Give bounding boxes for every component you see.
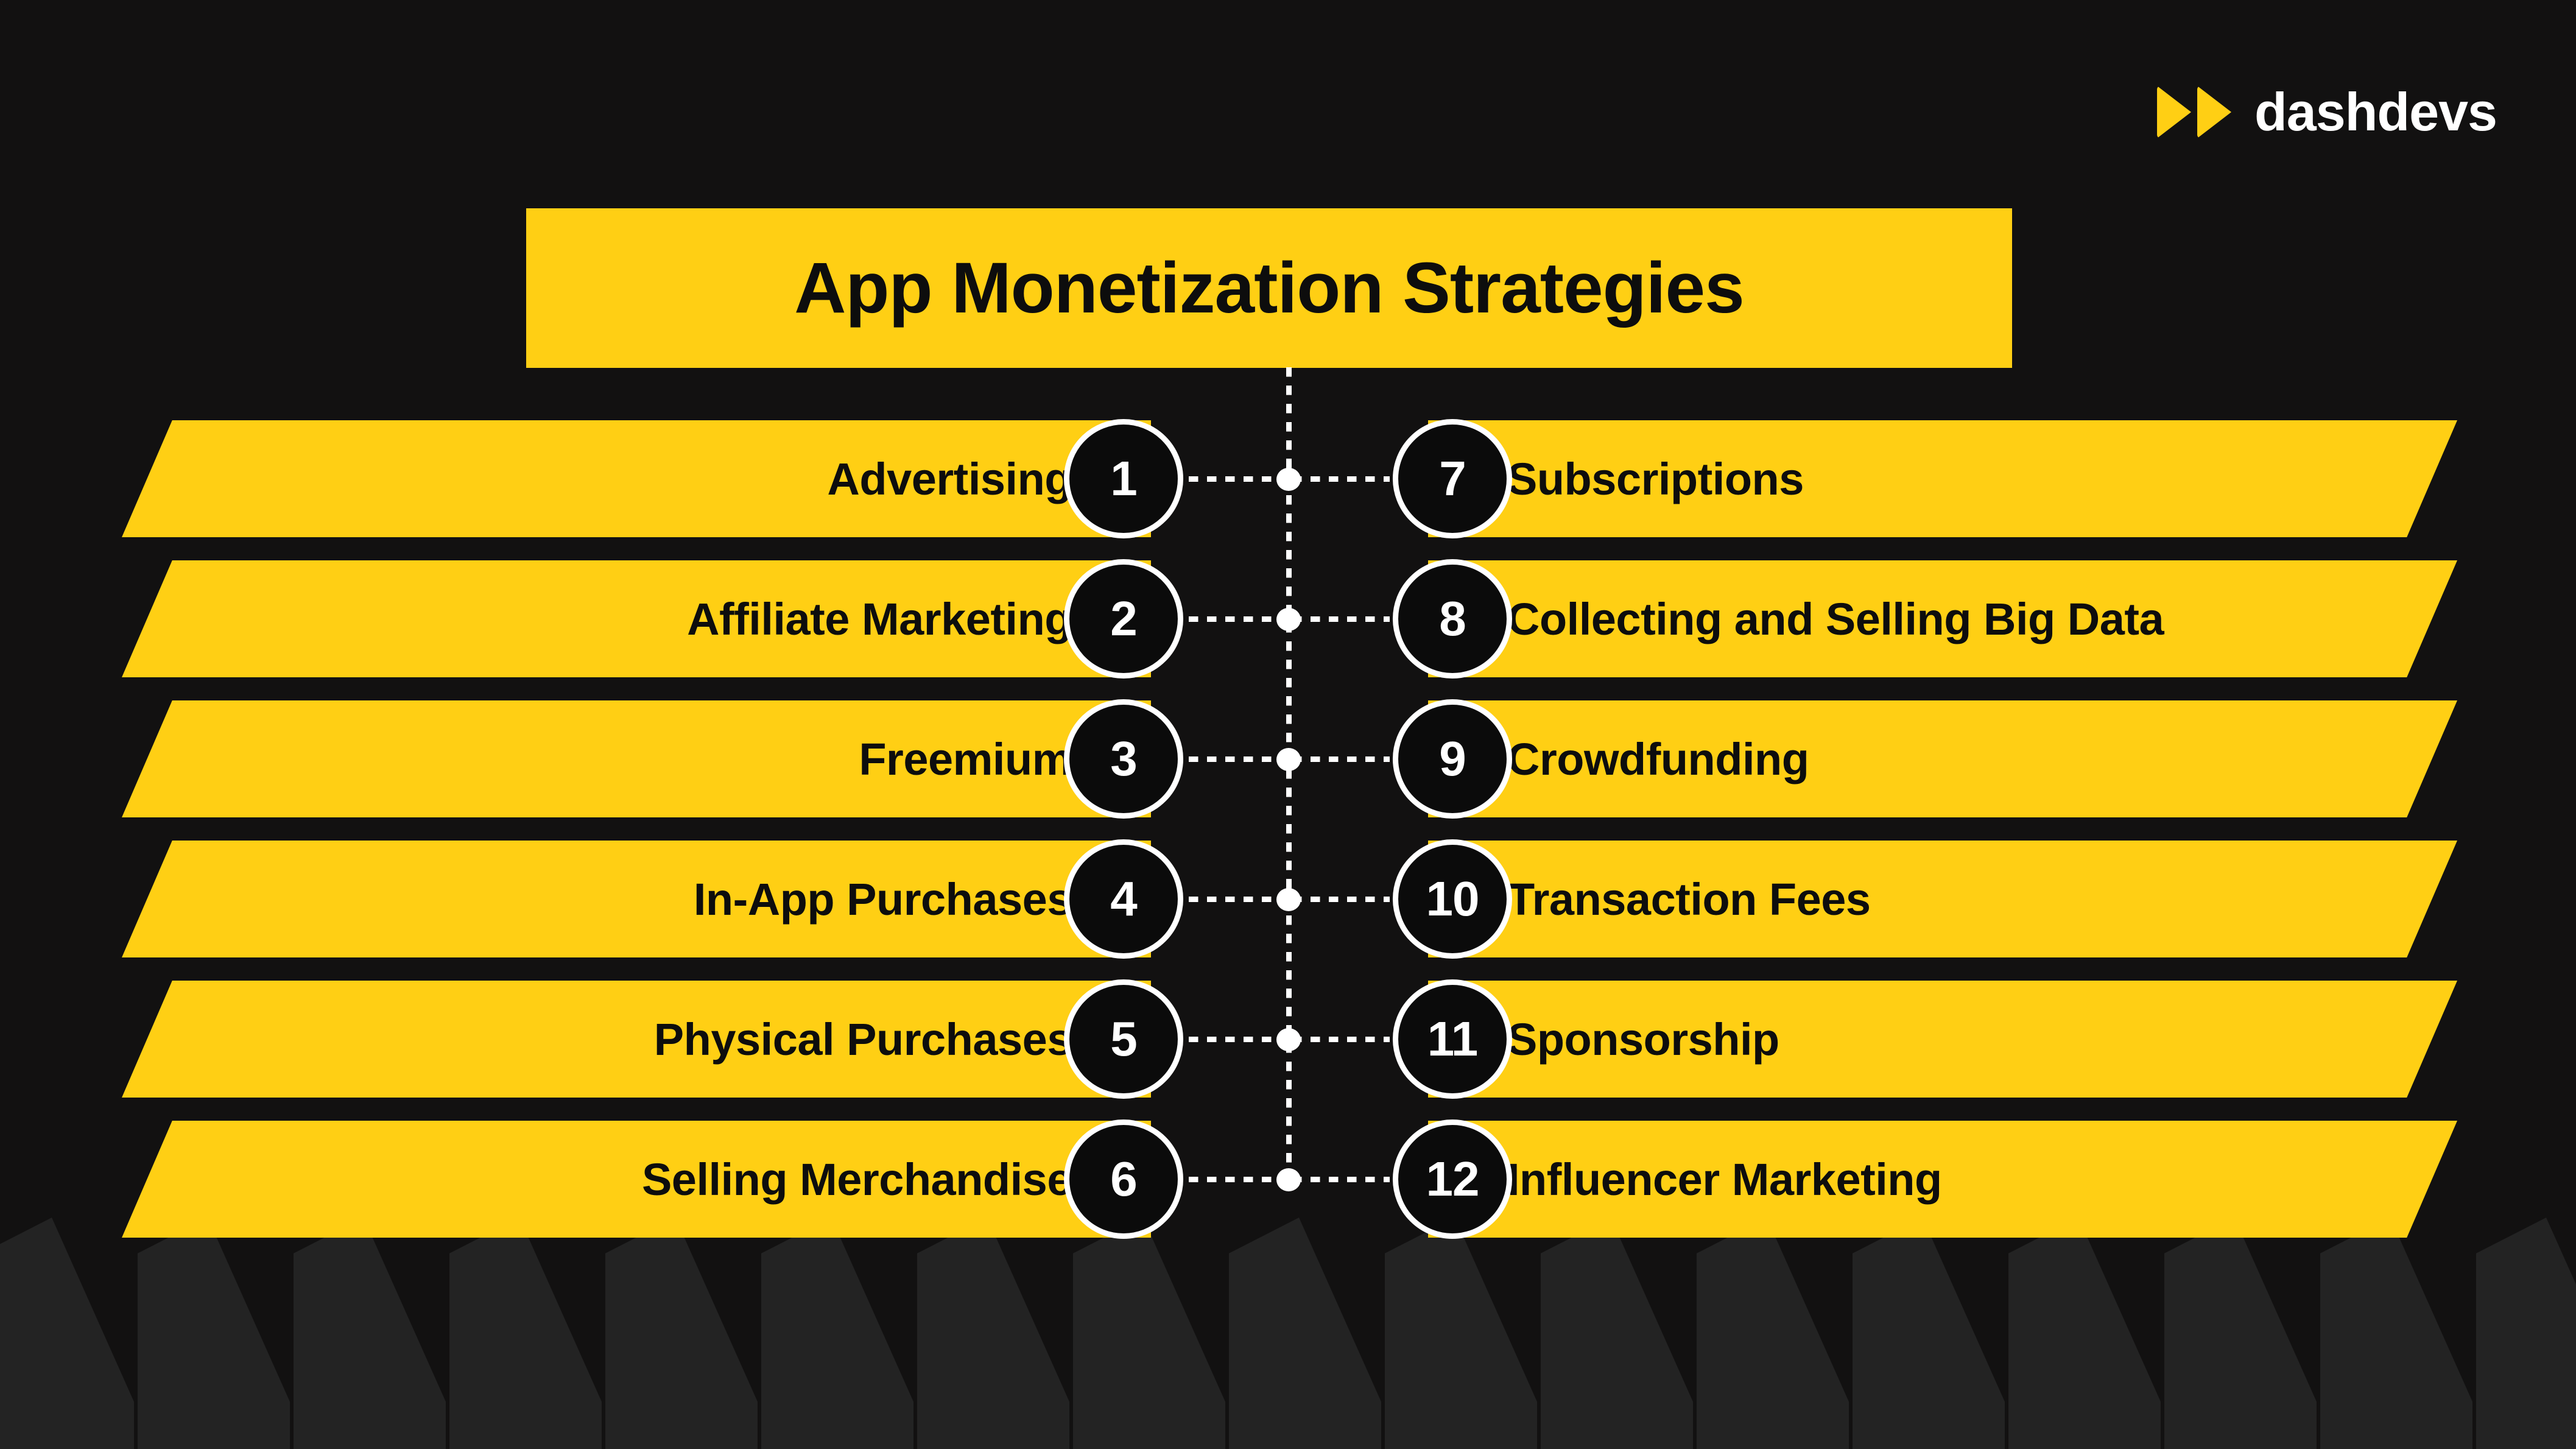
strategy-number-badge-right[interactable]: 12: [1393, 1119, 1512, 1239]
strategy-bar-left[interactable]: Physical Purchases: [122, 981, 1151, 1098]
strategy-bar-left[interactable]: Selling Merchandise: [122, 1121, 1151, 1238]
strategy-label-left: Affiliate Marketing: [687, 593, 1072, 645]
connector-dash-right: [1292, 616, 1390, 622]
watermark-triangle-icon: [2320, 1218, 2472, 1449]
watermark-triangle-icon: [1073, 1218, 1225, 1449]
connector-dash-right: [1292, 756, 1390, 762]
strategy-row: AdvertisingSubscriptions17: [0, 420, 2576, 537]
play-triangle-icon: [2157, 86, 2191, 138]
strategy-bar-left[interactable]: In-App Purchases: [122, 841, 1151, 957]
strategy-number-badge-left[interactable]: 2: [1064, 559, 1183, 679]
watermark-triangle-icon: [1385, 1218, 1537, 1449]
strategy-bar-left[interactable]: Advertising: [122, 420, 1151, 537]
watermark-triangle-icon: [449, 1218, 602, 1449]
strategy-bar-left[interactable]: Freemium: [122, 700, 1151, 817]
strategy-number-badge-right[interactable]: 7: [1393, 419, 1512, 538]
strategy-label-right: Crowdfunding: [1507, 733, 1809, 785]
watermark-triangle-icon: [1697, 1218, 1849, 1449]
connector-dash-left: [1189, 1037, 1286, 1042]
strategy-label-left: Selling Merchandise: [642, 1154, 1072, 1205]
infographic-canvas: dashdevs App Monetization Strategies Adv…: [0, 0, 2576, 1449]
connector-dash-left: [1189, 476, 1286, 482]
connector-dash-left: [1189, 756, 1286, 762]
brand-name: dashdevs: [2254, 85, 2497, 139]
watermark-triangle-icon: [761, 1218, 913, 1449]
watermark-triangle-icon: [2008, 1218, 2161, 1449]
page-title: App Monetization Strategies: [794, 247, 1744, 330]
connector-dash-right: [1292, 1177, 1390, 1182]
strategy-bar-left[interactable]: Affiliate Marketing: [122, 560, 1151, 677]
strategy-row: Selling MerchandiseInfluencer Marketing6…: [0, 1121, 2576, 1238]
strategy-number-badge-right[interactable]: 10: [1393, 839, 1512, 959]
strategy-number-badge-left[interactable]: 6: [1064, 1119, 1183, 1239]
play-triangle-icon: [2197, 86, 2231, 138]
watermark-triangle-icon: [917, 1218, 1069, 1449]
watermark-triangle-icon: [2164, 1218, 2317, 1449]
connector-dash-left: [1189, 1177, 1286, 1182]
strategy-row: In-App PurchasesTransaction Fees410: [0, 841, 2576, 957]
connector-dash-right: [1292, 897, 1390, 902]
strategy-bar-right[interactable]: Sponsorship: [1428, 981, 2457, 1098]
strategy-label-right: Sponsorship: [1507, 1014, 1779, 1065]
strategy-number-badge-left[interactable]: 4: [1064, 839, 1183, 959]
watermark-triangle-icon: [1229, 1218, 1381, 1449]
strategy-number-badge-right[interactable]: 8: [1393, 559, 1512, 679]
strategy-bar-right[interactable]: Influencer Marketing: [1428, 1121, 2457, 1238]
watermark-triangle-icon: [2476, 1218, 2576, 1449]
strategy-number-badge-left[interactable]: 5: [1064, 979, 1183, 1099]
strategy-label-right: Transaction Fees: [1507, 873, 1871, 925]
watermark-triangle-icon: [138, 1218, 290, 1449]
strategy-number-badge-right[interactable]: 11: [1393, 979, 1512, 1099]
strategy-row: FreemiumCrowdfunding39: [0, 700, 2576, 817]
strategy-number-badge-right[interactable]: 9: [1393, 699, 1512, 819]
watermark-triangle-icon: [1853, 1218, 2005, 1449]
strategy-bar-right[interactable]: Collecting and Selling Big Data: [1428, 560, 2457, 677]
connector-dash-right: [1292, 476, 1390, 482]
strategy-bar-right[interactable]: Crowdfunding: [1428, 700, 2457, 817]
strategy-label-left: Advertising: [827, 453, 1072, 505]
connector-dash-left: [1189, 616, 1286, 622]
strategy-label-right: Collecting and Selling Big Data: [1507, 593, 2164, 645]
strategy-number-badge-left[interactable]: 3: [1064, 699, 1183, 819]
title-banner: App Monetization Strategies: [526, 208, 2012, 368]
logo-mark: [2157, 86, 2231, 138]
brand-logo[interactable]: dashdevs: [2157, 85, 2497, 139]
connector-dash-left: [1189, 897, 1286, 902]
watermark-triangle-icon: [1541, 1218, 1693, 1449]
strategy-bar-right[interactable]: Subscriptions: [1428, 420, 2457, 537]
strategy-bar-right[interactable]: Transaction Fees: [1428, 841, 2457, 957]
watermark-triangle-icon: [0, 1218, 134, 1449]
watermark-triangle-icon: [294, 1218, 446, 1449]
strategy-label-right: Subscriptions: [1507, 453, 1804, 505]
strategy-label-right: Influencer Marketing: [1507, 1154, 1942, 1205]
strategy-label-left: In-App Purchases: [694, 873, 1072, 925]
strategy-number-badge-left[interactable]: 1: [1064, 419, 1183, 538]
connector-dash-right: [1292, 1037, 1390, 1042]
strategy-label-left: Physical Purchases: [654, 1014, 1072, 1065]
strategy-row: Physical PurchasesSponsorship511: [0, 981, 2576, 1098]
strategy-label-left: Freemium: [859, 733, 1072, 785]
watermark-triangle-icon: [605, 1218, 758, 1449]
strategy-row: Affiliate MarketingCollecting and Sellin…: [0, 560, 2576, 677]
